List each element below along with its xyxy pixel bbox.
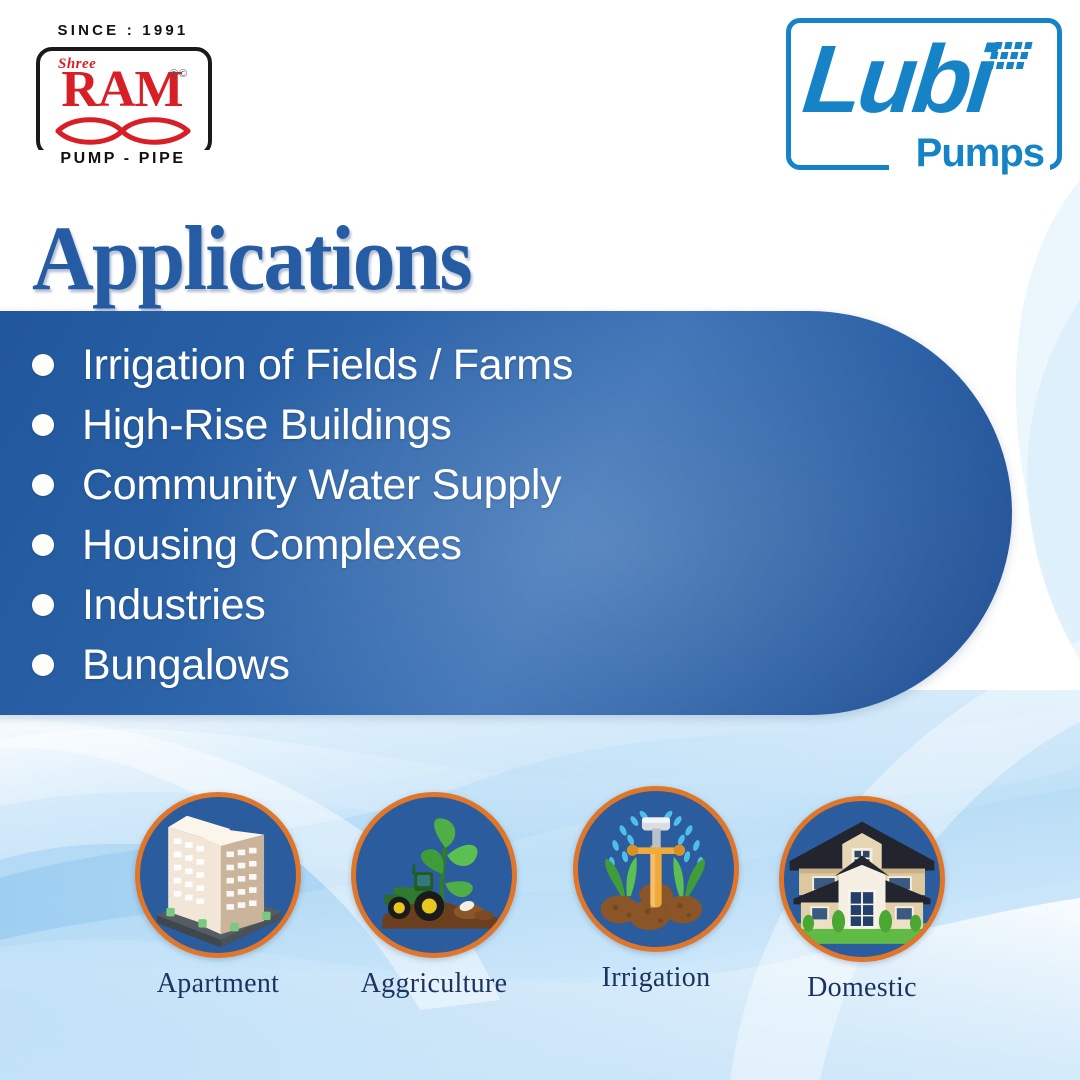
segment-domestic[interactable]: Domestic xyxy=(767,796,957,1004)
segment-agriculture[interactable]: Aggriculture xyxy=(339,792,529,1000)
list-item-label: Community Water Supply xyxy=(82,461,561,510)
poster-canvas: SINCE : 1991 Shree RAM ®© PUMP - PIPE Lu… xyxy=(0,0,1080,1080)
list-item-label: Housing Complexes xyxy=(82,521,462,570)
pumps-label: Pumps xyxy=(910,131,1050,176)
segment-label: Irrigation xyxy=(561,962,751,994)
segment-label: Aggriculture xyxy=(339,968,529,1000)
trademark-icon: ®© xyxy=(170,68,188,80)
sprinkler-icon xyxy=(578,791,734,947)
bullet-dot-icon xyxy=(32,594,54,616)
page-title: Applications xyxy=(32,212,471,304)
since-label: SINCE : 1991 xyxy=(18,22,228,39)
segment-label: Domestic xyxy=(767,972,957,1004)
segment-icon-circle xyxy=(135,792,301,958)
segments-row: Apartment xyxy=(0,780,1080,1010)
segment-irrigation[interactable]: Irrigation xyxy=(561,786,751,994)
list-item: Bungalows xyxy=(32,635,892,695)
list-item-label: High-Rise Buildings xyxy=(82,401,452,450)
list-item: High-Rise Buildings xyxy=(32,395,892,455)
apartment-building-icon xyxy=(140,797,296,953)
segment-icon-circle xyxy=(573,786,739,952)
list-item-label: Industries xyxy=(82,581,265,630)
bullet-dot-icon xyxy=(32,654,54,676)
segment-apartment[interactable]: Apartment xyxy=(123,792,313,1000)
pump-pipe-label: PUMP - PIPE xyxy=(18,150,228,168)
segment-label: Apartment xyxy=(123,968,313,1000)
list-item: Housing Complexes xyxy=(32,515,892,575)
grid-dots-icon xyxy=(986,40,1038,78)
applications-panel: Irrigation of Fields / Farms High-Rise B… xyxy=(0,311,1012,715)
bullet-dot-icon xyxy=(32,474,54,496)
segment-icon-circle xyxy=(779,796,945,962)
tractor-plant-icon xyxy=(356,797,512,953)
ribbon-swoosh-icon xyxy=(54,114,194,148)
shree-ram-logo: SINCE : 1991 Shree RAM ®© PUMP - PIPE xyxy=(18,22,228,170)
list-item: Industries xyxy=(32,575,892,635)
bullet-dot-icon xyxy=(32,534,54,556)
list-item-label: Irrigation of Fields / Farms xyxy=(82,341,573,390)
list-item-label: Bungalows xyxy=(82,641,290,690)
applications-list: Irrigation of Fields / Farms High-Rise B… xyxy=(32,335,892,695)
lubi-pumps-logo: Lubi Pumps xyxy=(786,18,1062,170)
bullet-dot-icon xyxy=(32,354,54,376)
bullet-dot-icon xyxy=(32,414,54,436)
lubi-wordmark: Lubi xyxy=(799,32,996,128)
list-item: Irrigation of Fields / Farms xyxy=(32,335,892,395)
list-item: Community Water Supply xyxy=(32,455,892,515)
house-icon xyxy=(784,801,940,957)
segment-icon-circle xyxy=(351,792,517,958)
